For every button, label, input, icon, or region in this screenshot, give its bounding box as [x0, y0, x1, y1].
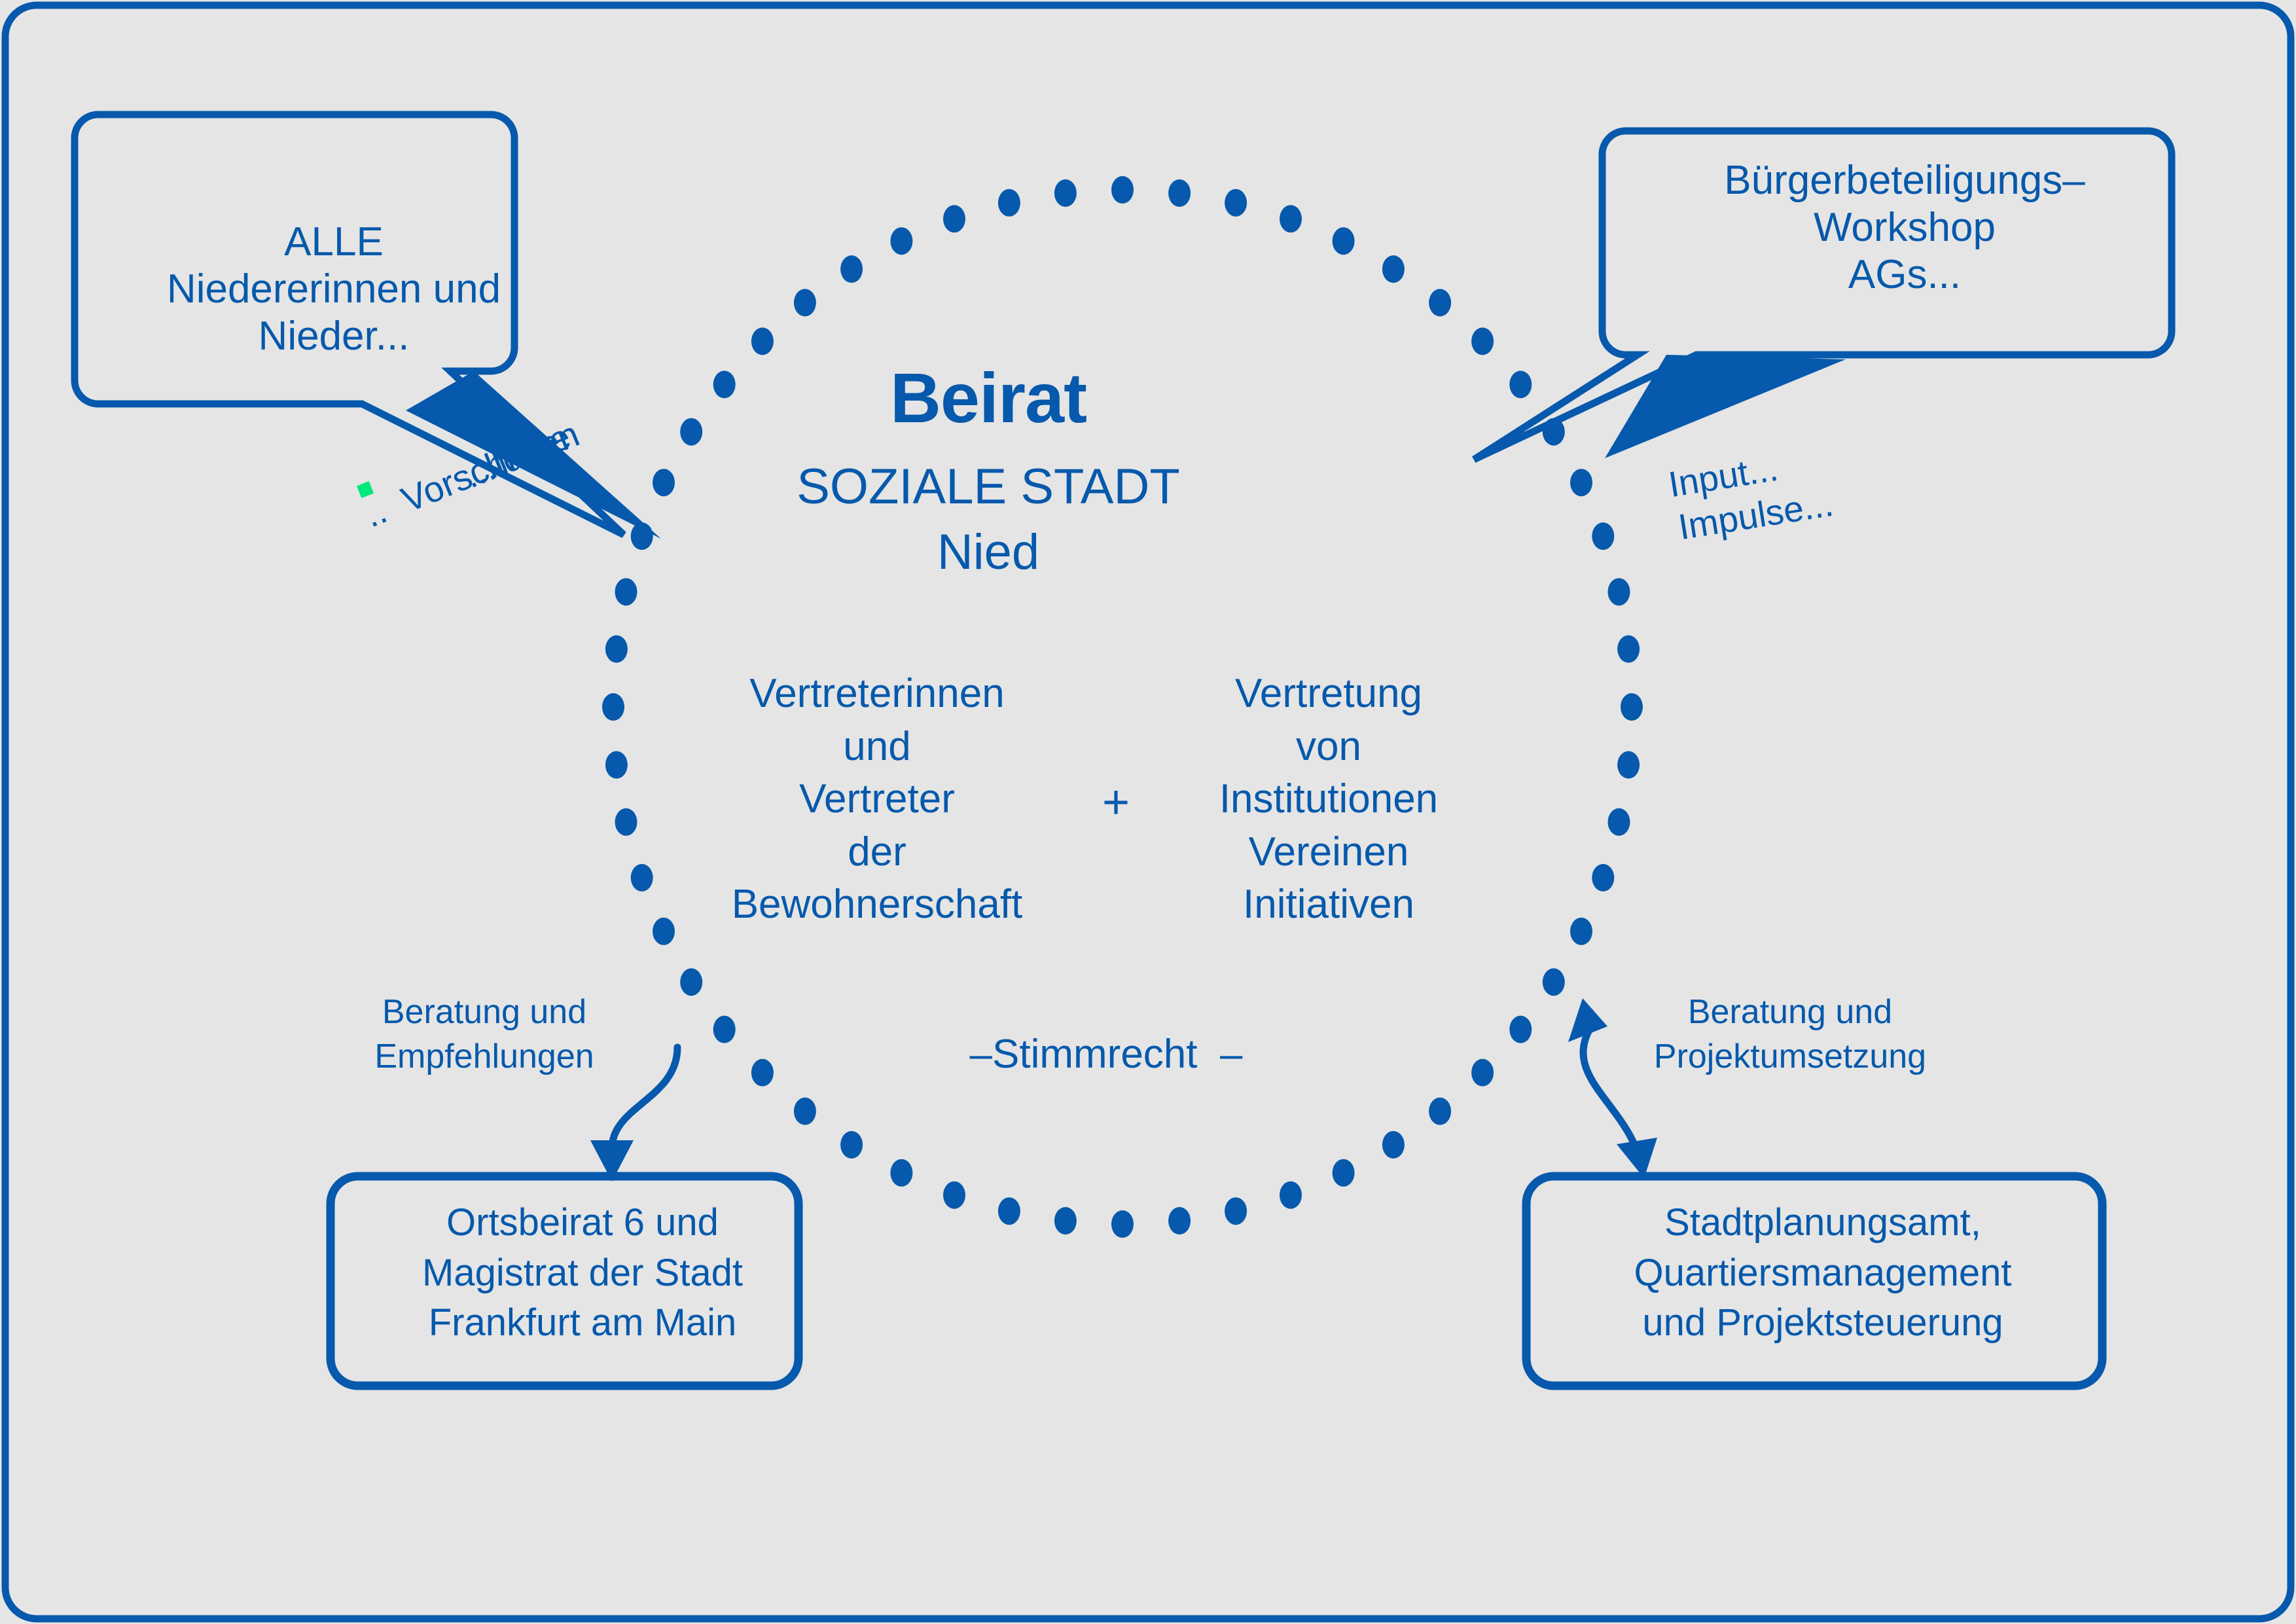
ring-dot: [1429, 1098, 1451, 1125]
ring-dot: [1429, 289, 1451, 316]
ring-dot: [1280, 1182, 1302, 1209]
ring-dot: [1543, 968, 1565, 996]
bubble-buerger-label: Bürgerbeteiligungs– Workshop AGs...: [1676, 157, 2134, 298]
box-stadtplanung-label: Stadtplanungsamt, Quartiersmanagement un…: [1551, 1198, 2094, 1348]
ring-dot: [1111, 1210, 1134, 1238]
page-title: Beirat: [759, 357, 1217, 439]
arrow-right-double: [1583, 1028, 1636, 1149]
ring-dot: [1509, 370, 1532, 398]
ring-dot: [943, 1182, 965, 1209]
ring-dot: [1382, 1131, 1405, 1159]
ring-dot: [1333, 1159, 1355, 1187]
ring-dot: [1333, 227, 1355, 255]
ring-dot: [751, 327, 774, 355]
plus-sign: +: [1077, 776, 1155, 831]
ring-dot: [1111, 176, 1134, 204]
ring-dot: [998, 189, 1020, 217]
ring-dot: [1225, 1197, 1247, 1225]
ring-dot: [1054, 1207, 1077, 1235]
ring-dot: [1168, 179, 1191, 207]
ring-dot: [1280, 205, 1302, 232]
ring-dot: [653, 918, 675, 945]
ring-dot: [1225, 189, 1247, 217]
ring-dot: [998, 1197, 1020, 1225]
ring-dot: [1168, 1207, 1191, 1235]
ring-dot: [890, 1159, 912, 1187]
box-ortsbeirat-label: Ortsbeirat 6 und Magistrat der Stadt Fra…: [353, 1198, 812, 1348]
ring-dot: [1471, 1059, 1494, 1087]
ring-dot: [1592, 522, 1614, 550]
ring-dot: [1570, 469, 1592, 496]
annotation-beratung-projektumsetzung: Beratung und Projektumsetzung: [1636, 990, 1944, 1079]
stimmrecht-note: –Stimmrecht –: [903, 1031, 1309, 1078]
ring-dot: [713, 370, 736, 398]
ring-dot: [751, 1059, 774, 1087]
ring-dot: [1471, 327, 1494, 355]
ring-dot: [1608, 808, 1630, 836]
ring-dot: [943, 205, 965, 232]
ring-dot: [680, 418, 702, 446]
ring-dot: [1382, 255, 1405, 283]
column-bewohnerschaft: Vertreterinnen und Vertreter der Bewohne…: [694, 668, 1060, 931]
column-institutionen: Vertretung von Institutionen Vereinen In…: [1165, 668, 1492, 931]
ring-dot: [1608, 578, 1630, 605]
annotation-beratung-empfehlungen: Beratung und Empfehlungen: [347, 990, 622, 1079]
ring-dot: [1054, 179, 1077, 207]
bubble-alle-label: ALLENiedererinnen und Nieder...: [98, 124, 569, 406]
ring-dot: [890, 227, 912, 255]
ring-dot: [1592, 864, 1614, 892]
subtitle-nied: Nied: [759, 524, 1217, 581]
ring-dot: [615, 578, 637, 605]
ring-dot: [794, 289, 816, 316]
subtitle-soziale-stadt: SOZIALE STADT: [759, 458, 1217, 516]
ring-dot: [1617, 751, 1640, 779]
ring-dot: [653, 469, 675, 496]
ring-dot: [840, 1131, 863, 1159]
ring-dot: [605, 751, 628, 779]
ring-dot: [602, 693, 624, 721]
ring-dot: [605, 636, 628, 663]
ring-dot: [794, 1098, 816, 1125]
diagram-canvas: ALLENiedererinnen und Nieder... Bürgerbe…: [0, 0, 2296, 1624]
ring-dot: [680, 968, 702, 996]
bubble-alle-line1: ALLE: [98, 219, 569, 266]
ring-dot: [1570, 918, 1592, 945]
ring-dot: [615, 808, 637, 836]
ring-dot: [1509, 1016, 1532, 1043]
ring-dot: [713, 1016, 736, 1043]
ring-dot: [840, 255, 863, 283]
bubble-alle-rest: Niedererinnen und Nieder...: [167, 266, 501, 359]
ring-dot: [1621, 693, 1643, 721]
ring-dot: [631, 864, 653, 892]
ring-dot: [1617, 636, 1640, 663]
